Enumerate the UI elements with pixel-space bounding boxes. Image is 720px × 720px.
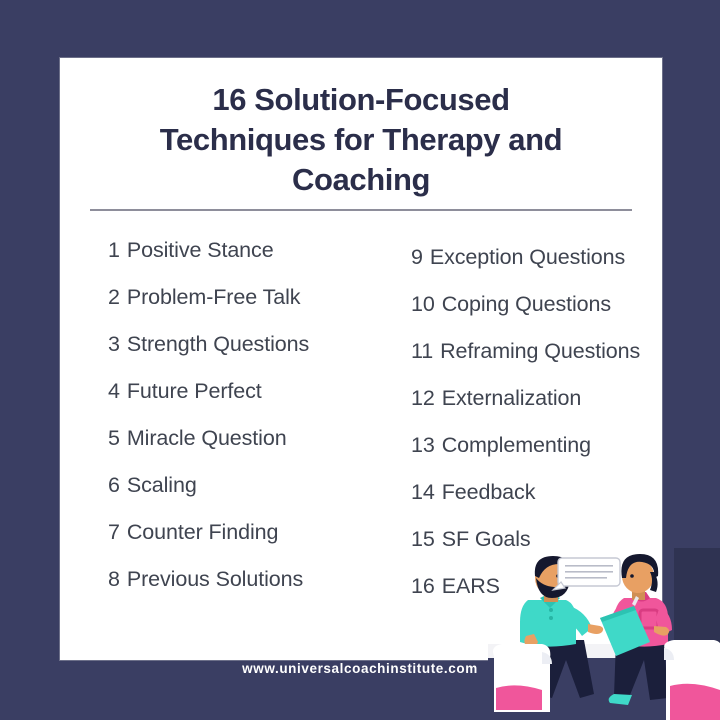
list-item: 12Externalization	[411, 375, 662, 422]
title-line-3: Coaching	[90, 160, 632, 200]
list-item-label: Previous Solutions	[127, 567, 303, 591]
list-item-number: 13	[411, 433, 435, 457]
list-item-number: 1	[108, 238, 120, 262]
list-item-number: 7	[108, 520, 120, 544]
list-item-label: Positive Stance	[127, 238, 274, 262]
list-item: 10Coping Questions	[411, 281, 662, 328]
list-item: 7Counter Finding	[108, 509, 364, 556]
list-item-number: 9	[411, 245, 423, 269]
list-item: 11Reframing Questions	[411, 328, 662, 375]
list-item-label: Future Perfect	[127, 379, 262, 403]
list-item-label: Miracle Question	[127, 426, 287, 450]
list-item: 2Problem-Free Talk	[108, 274, 364, 321]
list-item-number: 11	[411, 339, 433, 363]
list-item-label: Feedback	[442, 480, 536, 504]
list-item-number: 4	[108, 379, 120, 403]
list-item-label: Externalization	[442, 386, 582, 410]
list-item: 5Miracle Question	[108, 415, 364, 462]
list-item-label: Strength Questions	[127, 332, 309, 356]
title-line-1: 16 Solution-Focused	[90, 80, 632, 120]
list-item-number: 6	[108, 473, 120, 497]
list-item-label: Coping Questions	[442, 292, 611, 316]
list-item-number: 15	[411, 527, 435, 551]
list-item: 3Strength Questions	[108, 321, 364, 368]
list-item-number: 10	[411, 292, 435, 316]
infographic-poster: 16 Solution-Focused Techniques for Thera…	[0, 0, 720, 720]
list-item-label: Scaling	[127, 473, 197, 497]
list-item-number: 3	[108, 332, 120, 356]
list-item-number: 16	[411, 574, 435, 598]
title-line-2: Techniques for Therapy and	[90, 120, 632, 160]
list-item: 6Scaling	[108, 462, 364, 509]
techniques-column-left: 1Positive Stance 2Problem-Free Talk 3Str…	[60, 224, 364, 624]
two-people-coaching-session-illustration	[488, 548, 720, 720]
list-item-label: Complementing	[442, 433, 591, 457]
list-item-number: 5	[108, 426, 120, 450]
list-item-number: 2	[108, 285, 120, 309]
list-item-number: 14	[411, 480, 435, 504]
title-divider	[90, 209, 632, 211]
list-item: 13Complementing	[411, 422, 662, 469]
list-item: 8Previous Solutions	[108, 556, 364, 603]
list-item-label: Reframing Questions	[440, 339, 640, 363]
page-title: 16 Solution-Focused Techniques for Thera…	[90, 80, 632, 200]
list-item-label: Exception Questions	[430, 245, 625, 269]
list-item-number: 12	[411, 386, 435, 410]
list-item: 4Future Perfect	[108, 368, 364, 415]
list-item-label: Problem-Free Talk	[127, 285, 301, 309]
list-item: 14Feedback	[411, 469, 662, 516]
list-item: 1Positive Stance	[108, 227, 364, 274]
list-item: 9Exception Questions	[411, 234, 662, 281]
list-item-number: 8	[108, 567, 120, 591]
list-item-label: Counter Finding	[127, 520, 278, 544]
